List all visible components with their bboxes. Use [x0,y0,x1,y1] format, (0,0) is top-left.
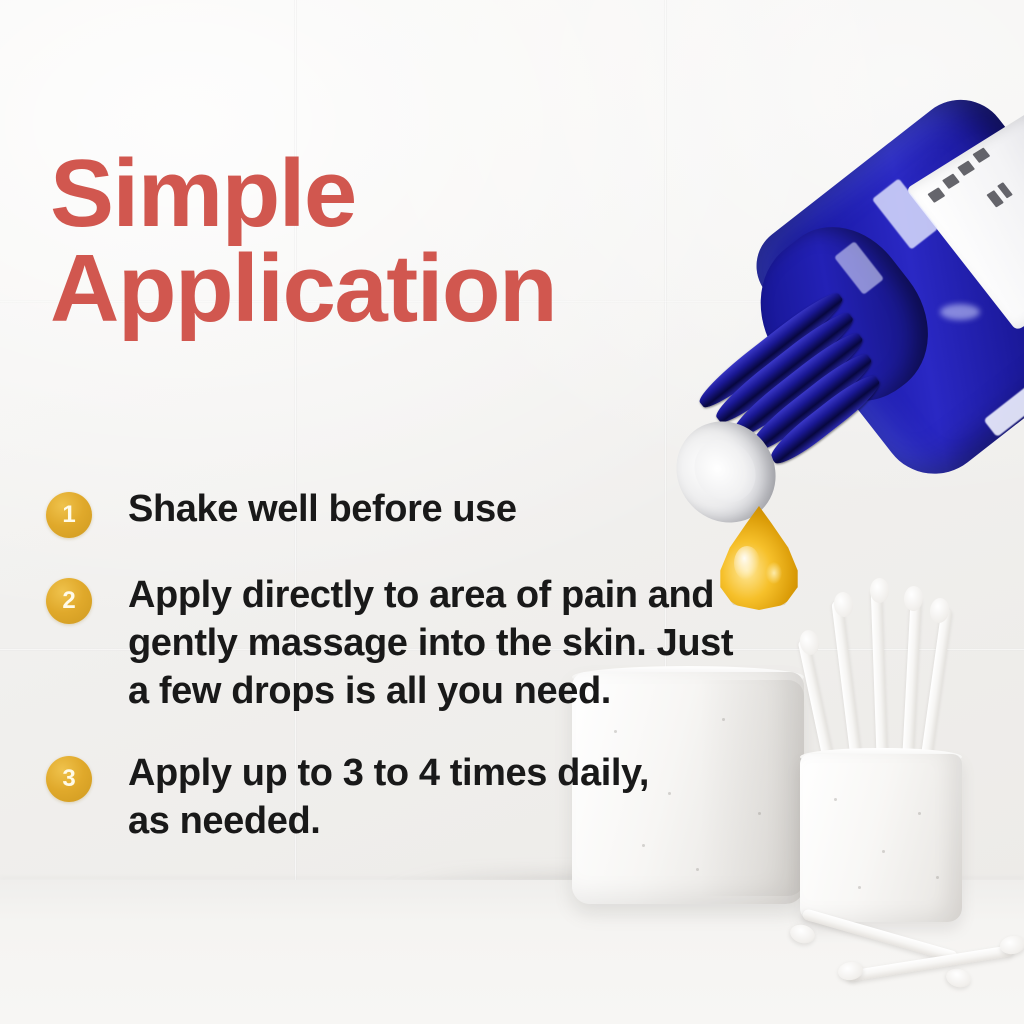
text-content: Simple Application 1 Shake well before u… [0,0,1024,1024]
step-number-badge: 1 [46,492,92,538]
step-line: Apply up to 3 to 4 times daily, [128,750,649,798]
page-title: Simple Application [50,146,750,336]
title-line-2: Application [50,241,750,336]
instruction-steps: 1 Shake well before use 2 Apply directly… [46,486,916,845]
title-line-1: Simple [50,146,750,241]
step-text: Shake well before use [128,486,517,534]
step-line: Shake well before use [128,486,517,534]
step-item-1: 1 Shake well before use [46,486,916,538]
step-text: Apply up to 3 to 4 times daily, as neede… [128,750,649,846]
step-item-2: 2 Apply directly to area of pain and gen… [46,572,916,716]
step-line: gently massage into the skin. Just [128,620,733,668]
step-line: as needed. [128,798,649,846]
step-line: Apply directly to area of pain and [128,572,733,620]
step-item-3: 3 Apply up to 3 to 4 times daily, as nee… [46,750,916,846]
step-text: Apply directly to area of pain and gentl… [128,572,733,716]
step-line: a few drops is all you need. [128,668,733,716]
step-number-badge: 2 [46,578,92,624]
step-number-badge: 3 [46,756,92,802]
promo-graphic: Simple Application 1 Shake well before u… [0,0,1024,1024]
